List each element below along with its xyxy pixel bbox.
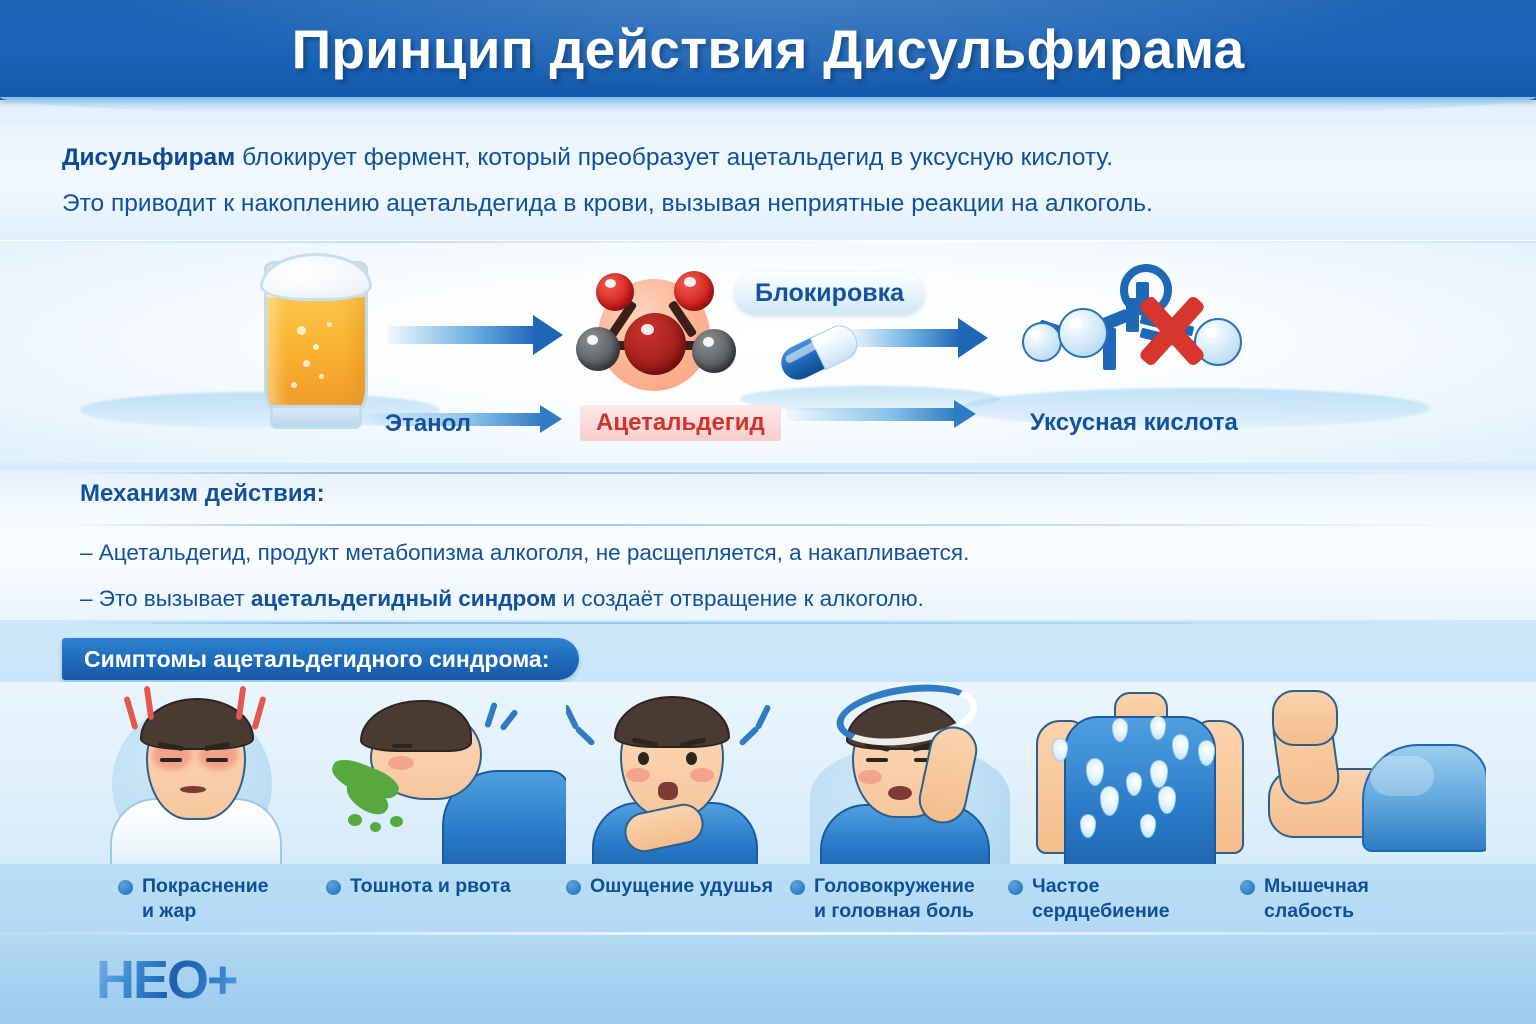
symptom-figure-sweating xyxy=(1022,682,1258,864)
symptom-label-5: Частое сердцебиение xyxy=(1008,874,1218,924)
mechanism-item-1: – Ацетальдегид, продукт метабопизма алко… xyxy=(80,540,969,566)
label-acetic-acid: Уксусная кислота xyxy=(1030,409,1238,437)
mechanism-dash-1: – xyxy=(80,540,99,565)
symptom-label-4-line1: Головокружение xyxy=(814,874,975,899)
intro-line-2: Это приводит к накоплению ацетальдегида … xyxy=(62,190,1153,218)
symptom-figure-weakness xyxy=(1250,682,1486,864)
bullet-dot-icon xyxy=(790,880,805,895)
brand-logo-text: НЕО+ xyxy=(96,949,237,1011)
symptom-label-6-line2: слабость xyxy=(1264,899,1369,924)
atom-oxygen-left xyxy=(596,273,634,311)
mechanism-text-1: Ацетальдегид, продукт метабопизма алкого… xyxy=(99,540,970,565)
symptom-label-1: Покраснение и жар xyxy=(118,874,318,924)
footer-divider xyxy=(0,932,1536,935)
atom-carbon-center xyxy=(624,313,686,375)
symptom-label-3-text: Ошущение удушья xyxy=(590,874,773,899)
mechanism-text-2a: Это вызывает xyxy=(99,586,251,611)
divider-top xyxy=(60,472,1480,474)
bullet-dot-icon xyxy=(1008,880,1023,895)
symptom-label-6-line1: Мышечная xyxy=(1264,874,1369,899)
symptom-label-3-line1: Ошущение удушья xyxy=(590,874,773,899)
atom-ball-2 xyxy=(1058,308,1108,358)
beer-glass-base xyxy=(270,405,362,429)
intro-section: Дисульфирам блокирует фермент, который п… xyxy=(0,126,1536,236)
bullet-dot-icon xyxy=(566,880,581,895)
header-wave-divider xyxy=(0,97,1536,119)
mechanism-item-2: – Это вызывает ацетальдегидный синдром и… xyxy=(80,586,924,612)
symptom-label-5-text: Частое сердцебиение xyxy=(1032,874,1170,924)
mechanism-dash-2: – xyxy=(80,586,99,611)
flushed-face-icon xyxy=(92,682,328,864)
mechanism-text-2b: и создаёт отвращение к алкоголю. xyxy=(556,586,924,611)
symptom-figure-flushed xyxy=(92,682,328,864)
mechanism-text-2-bold: ацетальдегидный синдром xyxy=(251,586,556,611)
symptom-figure-vomiting xyxy=(330,682,566,864)
sweating-torso-icon xyxy=(1022,682,1258,864)
page-title: Принцип действия Дисульфирама xyxy=(0,17,1536,81)
arrow-thin-right xyxy=(786,400,976,428)
symptoms-figures-row xyxy=(0,682,1536,864)
intro-line-1-rest: блокирует фермент, который преобразует а… xyxy=(235,144,1113,171)
mechanism-title: Механизм действия: xyxy=(80,480,325,508)
symptom-figure-choking xyxy=(566,682,802,864)
divider-mid xyxy=(60,524,1480,526)
symptom-label-6: Мышечная слабость xyxy=(1240,874,1440,924)
atom-carbon-left xyxy=(576,327,620,371)
block-badge-label: Блокировка xyxy=(755,279,904,308)
header-bar: Принцип действия Дисульфирама xyxy=(0,0,1536,100)
symptom-label-4-line2: и головная боль xyxy=(814,899,975,924)
intro-line-1: Дисульфирам блокирует фермент, который п… xyxy=(62,144,1113,172)
acetaldehyde-molecule-icon xyxy=(570,265,755,395)
acetic-acid-molecule-icon xyxy=(990,268,1280,398)
bullet-dot-icon xyxy=(1240,880,1255,895)
symptom-label-1-text: Покраснение и жар xyxy=(142,874,269,924)
atom-ball-1 xyxy=(1022,322,1062,362)
symptom-label-1-line1: Покраснение xyxy=(142,874,269,899)
label-acetaldehyde: Ацетальдегид xyxy=(596,409,765,437)
intro-drug-name: Дисульфирам xyxy=(62,144,235,171)
divider-bottom xyxy=(60,622,1480,624)
symptom-label-2-line1: Тошнота и рвота xyxy=(350,874,511,899)
symptom-label-3: Ошущение удушья xyxy=(566,874,796,899)
atom-carbon-right xyxy=(692,329,736,373)
dizzy-headache-icon xyxy=(796,682,1032,864)
label-ethanol: Этанол xyxy=(385,410,471,438)
bullet-dot-icon xyxy=(118,880,133,895)
symptom-label-1-line2: и жар xyxy=(142,899,269,924)
symptoms-banner: Симптомы ацетальдегидного синдрома: xyxy=(62,638,579,680)
flexed-arm-icon xyxy=(1250,682,1486,864)
atom-oxygen-right xyxy=(674,271,714,311)
symptom-label-2-text: Тошнота и рвота xyxy=(350,874,511,899)
arrow-ethanol-to-acetaldehyde xyxy=(388,315,563,355)
block-badge: Блокировка xyxy=(735,272,924,314)
brand-logo: НЕО+ xyxy=(96,952,237,1008)
bullet-dot-icon xyxy=(326,880,341,895)
arrow-acetaldehyde-to-acid xyxy=(848,318,988,358)
symptom-label-4: Головокружение и головная боль xyxy=(790,874,1000,924)
symptom-label-5-line2: сердцебиение xyxy=(1032,899,1170,924)
choking-person-icon xyxy=(566,682,802,864)
symptom-label-6-text: Мышечная слабость xyxy=(1264,874,1369,924)
infographic-poster: Принцип действия Дисульфирама Дисульфира… xyxy=(0,0,1536,1024)
beer-glass-icon xyxy=(258,255,368,430)
red-x-blocked-icon xyxy=(1135,294,1209,368)
symptom-label-2: Тошнота и рвота xyxy=(326,874,546,899)
label-acetaldehyde-box: Ацетальдегид xyxy=(580,405,781,441)
symptom-figure-dizzy xyxy=(796,682,1032,864)
symptom-label-4-text: Головокружение и головная боль xyxy=(814,874,975,924)
vomiting-person-icon xyxy=(330,682,566,864)
symptom-label-5-line1: Частое xyxy=(1032,874,1170,899)
symptoms-banner-label: Симптомы ацетальдегидного синдрома: xyxy=(84,646,549,673)
